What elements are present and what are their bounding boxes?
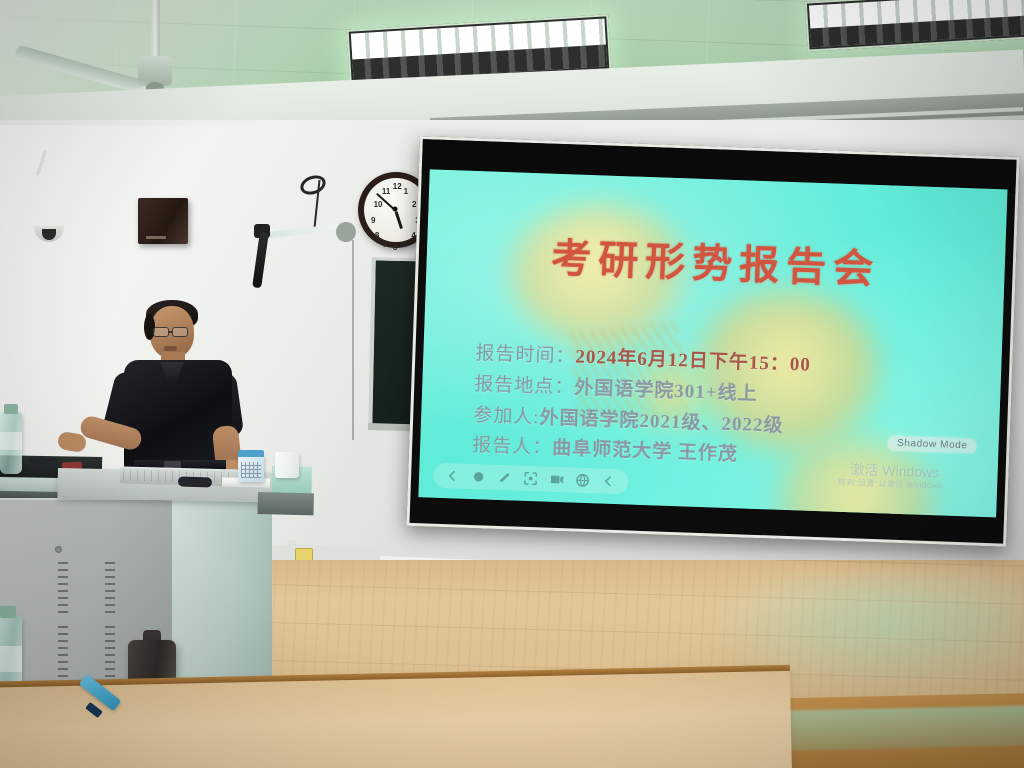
slide-line-location-value: 外国语学院301+线上: [574, 377, 758, 404]
foreground-desk: [0, 671, 792, 768]
water-bottle-cap: [4, 404, 18, 414]
slide-line-time-label: 报告时间：: [475, 343, 576, 367]
white-cup: [275, 452, 299, 478]
console-lock[interactable]: [55, 546, 62, 553]
eyeglasses-right-lens: [172, 327, 188, 337]
small-blue-box-lid: [238, 450, 264, 457]
clock-numeral: 11: [382, 188, 390, 196]
windows-activation-watermark: 激活 Windows 转到"设置"以激活 Windows。: [838, 460, 952, 491]
keyboard-drawer[interactable]: [257, 492, 314, 515]
water-bottle-cap: [0, 606, 16, 618]
slide-line-time-value: 2024年6月12日下午15：00: [575, 347, 811, 376]
pen-annotate-icon[interactable]: [497, 470, 513, 486]
clock-numeral: 1: [404, 188, 408, 196]
console-vent: [58, 626, 68, 680]
clock-numeral: 4: [411, 232, 415, 240]
clock-numeral: 12: [393, 183, 402, 191]
previous-slide-icon[interactable]: [445, 468, 461, 484]
projector-arm-wall-mount: [336, 222, 356, 242]
screen-pull-wire: [352, 240, 354, 440]
clock-numeral: 7: [383, 241, 387, 249]
slide-line-attendees-value: 外国语学院2021级、2022级: [539, 407, 784, 437]
classroom-scene: 12 1 2 3 4 5 6 7 8 9 10 11: [0, 0, 1024, 768]
clock-numeral: 8: [375, 232, 379, 240]
console-vent: [58, 562, 68, 616]
remote-control[interactable]: [178, 476, 212, 487]
clock-numeral: 2: [412, 201, 416, 209]
ceiling-fan-rod: [150, 0, 160, 60]
console-vent: [105, 562, 115, 616]
desk-device: [28, 457, 58, 469]
slide-surface[interactable]: 考研形势报告会 报告时间：2024年6月12日下午15：00 报告地点：外国语学…: [418, 169, 1007, 517]
water-bottle-label: [0, 432, 22, 450]
zoom-region-icon[interactable]: [523, 471, 539, 487]
subtitles-globe-icon[interactable]: [575, 473, 591, 489]
shadow-mode-badge[interactable]: Shadow Mode: [888, 436, 977, 454]
clock-numeral: 10: [374, 201, 383, 209]
security-camera: [36, 188, 62, 228]
eyeglasses-left-lens: [153, 327, 169, 337]
slide-body: 报告时间：2024年6月12日下午15：00 报告地点：外国语学院301+线上 …: [472, 339, 982, 480]
clock-numeral: 9: [371, 217, 375, 225]
podium-side-panel: [172, 494, 272, 684]
console-vent: [105, 626, 115, 680]
more-options-icon[interactable]: [601, 474, 617, 490]
laser-pointer-icon[interactable]: [471, 469, 487, 485]
small-blue-box-grid: [241, 462, 261, 478]
clock-center-pin: [393, 207, 398, 212]
speaker-brand-label: [146, 236, 166, 239]
slide-line-speaker-label: 报告人：: [472, 435, 553, 459]
water-bottle-label: [0, 646, 22, 672]
eyeglasses-bridge: [168, 331, 173, 333]
slide-line-speaker-value: 曲阜师范大学 王作茂: [552, 438, 738, 465]
presenter-view-icon[interactable]: [549, 472, 565, 488]
slide-line-location-label: 报告地点：: [474, 374, 575, 398]
clock-hour-hand: [395, 211, 403, 229]
clock-numeral: 6: [393, 244, 397, 252]
presenter-mouth: [164, 346, 177, 351]
clock-numeral: 5: [403, 241, 407, 249]
slide-line-attendees-label: 参加人:: [473, 405, 540, 428]
projection-screen: 考研形势报告会 报告时间：2024年6月12日下午15：00 报告地点：外国语学…: [406, 136, 1019, 547]
